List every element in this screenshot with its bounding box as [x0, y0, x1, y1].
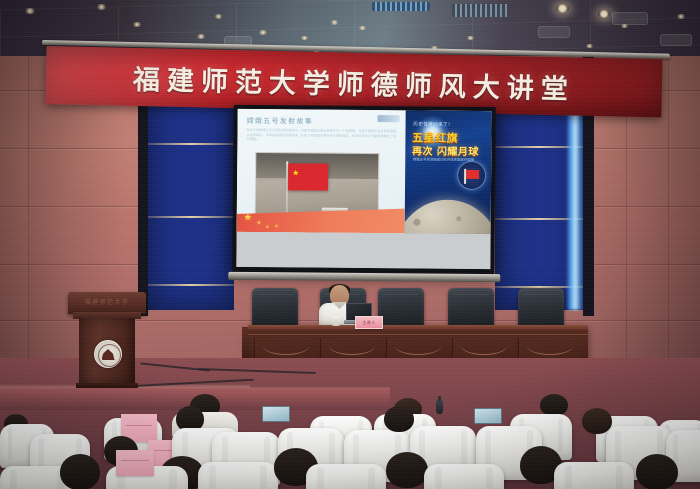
slide-star-icon: ★: [266, 222, 270, 231]
audience-head: [540, 394, 568, 416]
handout-rule: [121, 460, 148, 461]
table-groove: [248, 334, 588, 335]
ceiling-light-truss: [372, 2, 430, 11]
stage-chairs: [252, 288, 582, 330]
projection-surface: 嫦娥五号发射故事 探月工程嫦娥五号任务取得圆满成功，这是中国航天事业发展的又一个…: [236, 109, 491, 269]
audience-seat: [198, 462, 278, 489]
stage-spotlight: [598, 10, 610, 18]
chinese-flag: ★: [288, 163, 328, 190]
table-lip: [248, 325, 588, 330]
poster-headline-2: 再次 闪耀月球: [412, 142, 479, 158]
slide-body-text: 探月工程嫦娥五号任务取得圆满成功，这是中国航天事业发展的又一个里程碑。五星红旗首…: [246, 128, 397, 143]
stage-chair: [448, 288, 494, 328]
lectern: 福建师范大学: [68, 292, 146, 388]
ceiling-downlight: [466, 36, 475, 40]
ceiling-downlight: [196, 34, 206, 39]
name-placard: 主讲人: [355, 316, 383, 329]
slide-star-icon: ★: [244, 213, 252, 222]
stage-chair: [252, 288, 298, 328]
audience-laptop: [474, 408, 502, 424]
auditorium-scene: 福建师范大学师德师风大讲堂 嫦娥五号发射故事 探月工程嫦娥五号任务取得圆满成功，…: [0, 0, 700, 489]
table-arc: [461, 346, 507, 355]
panel-stripe: [148, 284, 234, 286]
table-arc: [527, 346, 573, 355]
handout-rule: [126, 425, 152, 426]
ceiling-downlight: [258, 30, 268, 35]
lectern-body: [79, 318, 135, 384]
stage-chair: [518, 288, 564, 328]
placard-text: 主讲人: [362, 320, 375, 326]
emblem-ring: [98, 344, 121, 367]
lectern-engraving: 福建师范大学: [68, 297, 146, 306]
ceiling-vent: [538, 26, 570, 38]
lectern-top: 福建师范大学: [68, 292, 146, 314]
table-arc: [329, 346, 375, 355]
slide-left-column: 嫦娥五号发射故事 探月工程嫦娥五号任务取得圆满成功，这是中国航天事业发展的又一个…: [237, 109, 406, 234]
table-arc: [263, 346, 309, 355]
ceiling-light-truss: [452, 4, 508, 17]
ceiling-downlight: [300, 36, 309, 40]
audience-seat: [424, 464, 504, 489]
panel-stripe: [148, 216, 234, 218]
slide-star-icon: ★: [275, 221, 279, 230]
projection-screen: 嫦娥五号发射故事 探月工程嫦娥五号任务取得圆满成功，这是中国航天事业发展的又一个…: [232, 105, 495, 275]
badge-flag: [466, 170, 479, 179]
slide-title: 嫦娥五号发射故事: [247, 116, 313, 127]
audience-seat: [554, 462, 634, 489]
ceiling-downlight: [330, 20, 339, 25]
ceiling-vent: [660, 34, 692, 46]
ceiling-downlight: [214, 14, 223, 19]
ceiling-downlight: [132, 22, 142, 27]
stage-spotlight: [556, 4, 569, 13]
table-arc: [395, 346, 441, 355]
flag-closeup-badge: [457, 161, 486, 190]
water-bottle: [436, 400, 443, 414]
pink-handout: [116, 450, 154, 476]
presentation-slide: 嫦娥五号发射故事 探月工程嫦娥五号任务取得圆满成功，这是中国航天事业发展的又一个…: [237, 109, 492, 234]
lectern-base: [76, 383, 138, 388]
audience-seat: [306, 464, 386, 489]
audience-head: [60, 454, 100, 489]
ceiling-downlight: [96, 4, 107, 10]
slide-logo: [377, 115, 399, 122]
ceiling-downlight: [585, 44, 594, 48]
audience-head: [386, 452, 428, 488]
panel-stripe: [148, 143, 234, 145]
ceiling-downlight: [358, 26, 367, 30]
ceiling-vent: [612, 12, 648, 25]
slide-blank-area: [236, 232, 490, 269]
slide-star-icon: ★: [257, 219, 262, 228]
audience-laptop: [262, 406, 290, 422]
ceiling-downlight: [676, 14, 686, 19]
moon-surface-graphic: [404, 199, 491, 234]
audience-head: [582, 408, 612, 434]
audience-head: [636, 454, 678, 489]
stage-chair: [378, 288, 424, 328]
slide-poster: 历史性瞬间来了! 五星红旗 再次 闪耀月球 嫦娥五号探测器成功在月球表面展开国旗: [404, 110, 491, 234]
poster-kicker: 历史性瞬间来了!: [413, 121, 450, 127]
water-cup: [332, 316, 340, 326]
audience-area: [0, 392, 700, 489]
ceiling-downlight: [24, 8, 36, 14]
university-emblem-icon: [94, 340, 122, 368]
audience-head: [384, 406, 414, 432]
